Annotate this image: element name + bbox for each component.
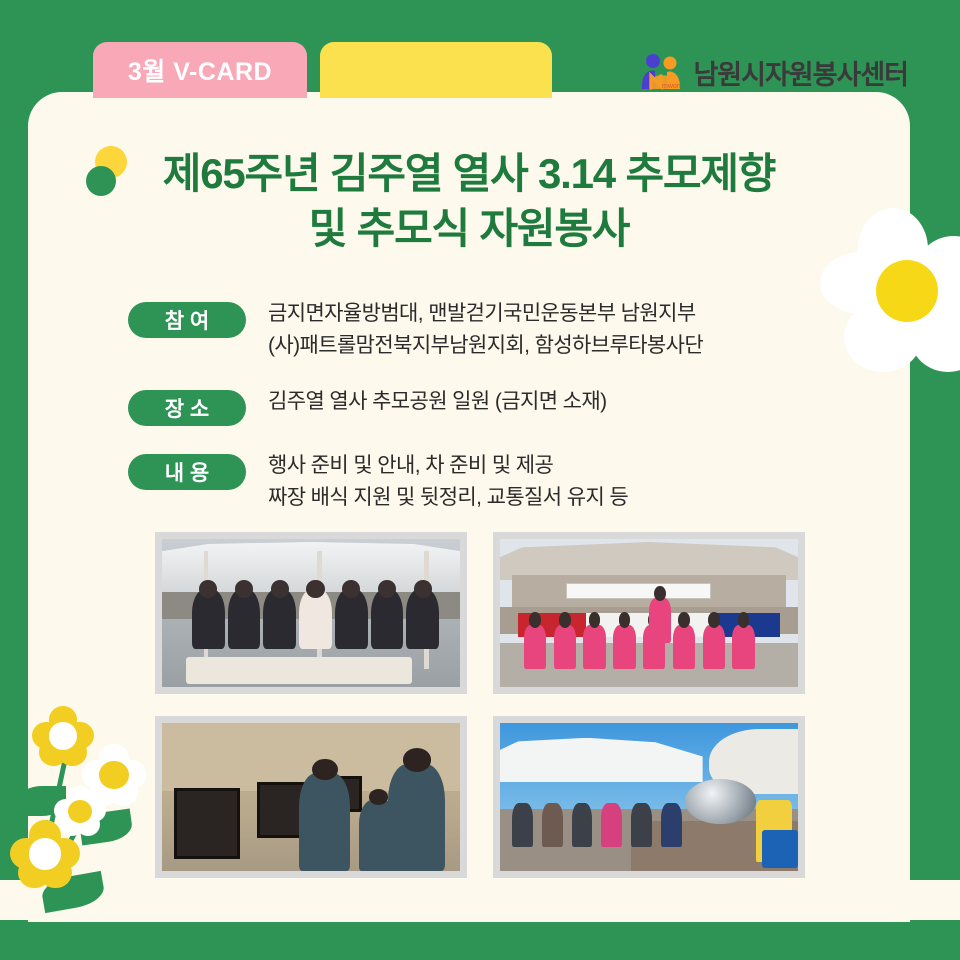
info-text-participants: 금지면자율방범대, 맨발걷기국민운동본부 남원지부 (사)패트롤맘전북지부남원지… (268, 298, 703, 362)
info-row-participants: 참 여 금지면자율방범대, 맨발걷기국민운동본부 남원지부 (사)패트롤맘전북지… (128, 298, 888, 362)
badge-activities: 내 용 (128, 454, 246, 490)
page-title: 제65주년 김주열 열사 3.14 추모제향 및 추모식 자원봉사 (28, 146, 910, 257)
location-line-1: 김주열 열사 추모공원 일원 (금지면 소재) (268, 386, 606, 418)
badge-participants: 참 여 (128, 302, 246, 338)
photo-volunteers-under-tent (155, 532, 467, 694)
logo-wordmark: 남원시자원봉사센터 (693, 53, 908, 92)
badge-location: 장 소 (128, 390, 246, 426)
activities-line-1: 행사 준비 및 안내, 차 준비 및 제공 (268, 450, 628, 482)
flower-yellow-bottom (10, 820, 80, 888)
title-dot-green (86, 166, 116, 196)
tab-month-vcard[interactable]: 3월 V-CARD (93, 42, 307, 98)
title-line-1: 제65주년 김주열 열사 3.14 추모제향 (28, 146, 910, 201)
center-logo: mwon 남원시자원봉사센터 (638, 52, 908, 92)
info-text-location: 김주열 열사 추모공원 일원 (금지면 소재) (268, 386, 606, 418)
photo-setting-up-photo-easels (155, 716, 467, 878)
photo-group-pink-vests-hanok (493, 532, 805, 694)
participants-line-1: 금지면자율방범대, 맨발걷기국민운동본부 남원지부 (268, 298, 703, 330)
svg-text:mwon: mwon (662, 83, 681, 90)
info-row-location: 장 소 김주열 열사 추모공원 일원 (금지면 소재) (128, 386, 888, 426)
tab-blank-yellow[interactable] (320, 42, 552, 98)
photo-grid (155, 532, 805, 878)
v-card-poster: 3월 V-CARD mwon 남원시자원봉사센터 제65주년 김주열 열사 3.… (0, 0, 960, 960)
two-people-namwon-icon: mwon (638, 52, 684, 92)
info-row-activities: 내 용 행사 준비 및 안내, 차 준비 및 제공 짜장 배식 지원 및 뒷정리… (128, 450, 888, 514)
activities-line-2: 짜장 배식 지원 및 뒷정리, 교통질서 유지 등 (268, 482, 628, 514)
tab-month-label: 3월 V-CARD (128, 52, 272, 88)
photo-outdoor-food-service (493, 716, 805, 878)
info-list: 참 여 금지면자율방범대, 맨발걷기국민운동본부 남원지부 (사)패트롤맘전북지… (128, 298, 888, 538)
info-text-activities: 행사 준비 및 안내, 차 준비 및 제공 짜장 배식 지원 및 뒷정리, 교통… (268, 450, 628, 514)
participants-line-2: (사)패트롤맘전북지부남원지회, 함성하브루타봉사단 (268, 330, 703, 362)
title-line-2: 및 추모식 자원봉사 (28, 201, 910, 256)
